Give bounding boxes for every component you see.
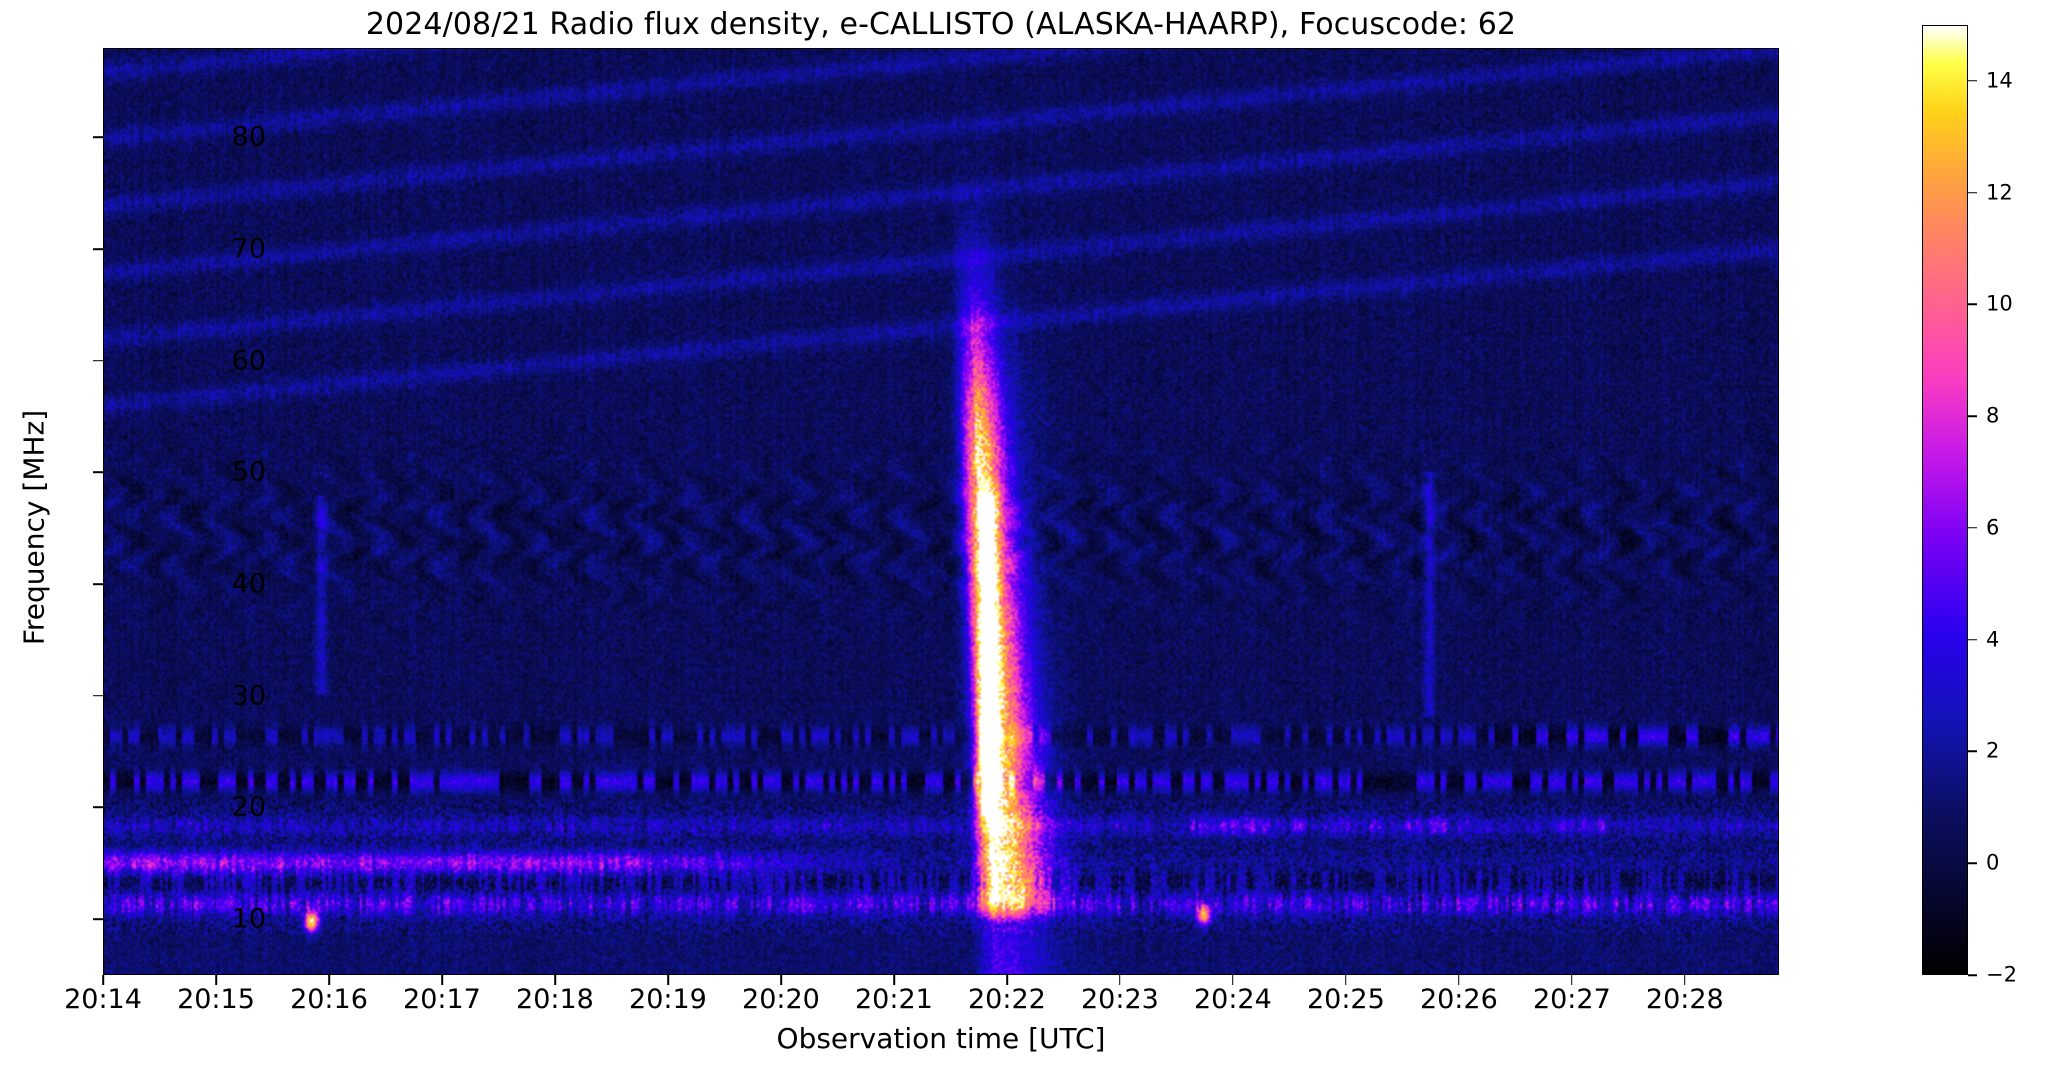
page-title: 2024/08/21 Radio flux density, e-CALLIST… [103,8,1779,42]
spectrogram-plot-area [103,48,1779,975]
x-tick-mark [328,975,330,985]
colorbar-tick-mark [1968,304,1977,306]
x-tick-mark [102,975,104,985]
x-tick-mark [780,975,782,985]
x-tick-label: 20:22 [968,986,1046,1013]
colorbar-tick-label: 8 [1986,406,1999,427]
y-tick-mark [93,583,103,585]
x-tick-mark [1458,975,1460,985]
x-tick-mark [1232,975,1234,985]
y-tick-label: 60 [232,347,266,374]
y-tick-mark [93,472,103,474]
y-tick-label: 50 [232,459,266,486]
colorbar-tick-label: 10 [1986,294,2013,315]
y-tick-mark [93,137,103,139]
x-tick-label: 20:28 [1646,986,1724,1013]
y-tick-mark [93,807,103,809]
colorbar-tick-label: 14 [1986,70,2013,91]
x-tick-label: 20:23 [1081,986,1159,1013]
colorbar-tick-label: 2 [1986,741,1999,762]
colorbar-tick-label: −2 [1986,965,2017,986]
x-tick-label: 20:17 [403,986,481,1013]
x-tick-label: 20:15 [177,986,255,1013]
colorbar-tick-mark [1968,80,1977,82]
colorbar-tick-label: 12 [1986,182,2013,203]
y-tick-label: 20 [232,794,266,821]
x-tick-label: 20:16 [290,986,368,1013]
colorbar-tick-mark [1968,862,1977,864]
x-tick-mark [1345,975,1347,985]
x-tick-label: 20:19 [629,986,707,1013]
y-tick-label: 70 [232,236,266,263]
y-tick-mark [93,918,103,920]
y-tick-label: 30 [232,682,266,709]
x-axis-label: Observation time [UTC] [103,1022,1779,1055]
colorbar-tick-mark [1968,192,1977,194]
colorbar-tick-mark [1968,751,1977,753]
x-tick-mark [1684,975,1686,985]
x-tick-mark [1571,975,1573,985]
x-tick-mark [667,975,669,985]
x-tick-mark [215,975,217,985]
colorbar-tick-mark [1968,415,1977,417]
x-tick-label: 20:18 [516,986,594,1013]
colorbar-tick-mark [1968,527,1977,529]
colorbar-tick-label: 0 [1986,853,1999,874]
colorbar-tick-label: 4 [1986,629,1999,650]
x-tick-mark [441,975,443,985]
y-tick-label: 40 [232,571,266,598]
x-tick-mark [1119,975,1121,985]
y-tick-label: 80 [232,124,266,151]
y-axis-label: Frequency [MHz] [18,328,51,728]
colorbar-tick-mark [1968,639,1977,641]
y-tick-mark [93,360,103,362]
x-tick-label: 20:27 [1533,986,1611,1013]
colorbar [1922,25,1968,975]
x-tick-label: 20:20 [742,986,820,1013]
x-tick-label: 20:21 [855,986,933,1013]
x-tick-mark [554,975,556,985]
y-tick-mark [93,248,103,250]
x-tick-label: 20:24 [1194,986,1272,1013]
x-tick-label: 20:14 [64,986,142,1013]
spectrogram-figure: 2024/08/21 Radio flux density, e-CALLIST… [0,0,2047,1067]
colorbar-tick-label: 6 [1986,517,1999,538]
colorbar-tick-mark [1968,974,1977,976]
y-tick-label: 10 [232,906,266,933]
spectrogram-image [104,49,1778,974]
x-tick-label: 20:25 [1307,986,1385,1013]
x-tick-mark [893,975,895,985]
x-tick-label: 20:26 [1420,986,1498,1013]
x-tick-mark [1006,975,1008,985]
y-tick-mark [93,695,103,697]
